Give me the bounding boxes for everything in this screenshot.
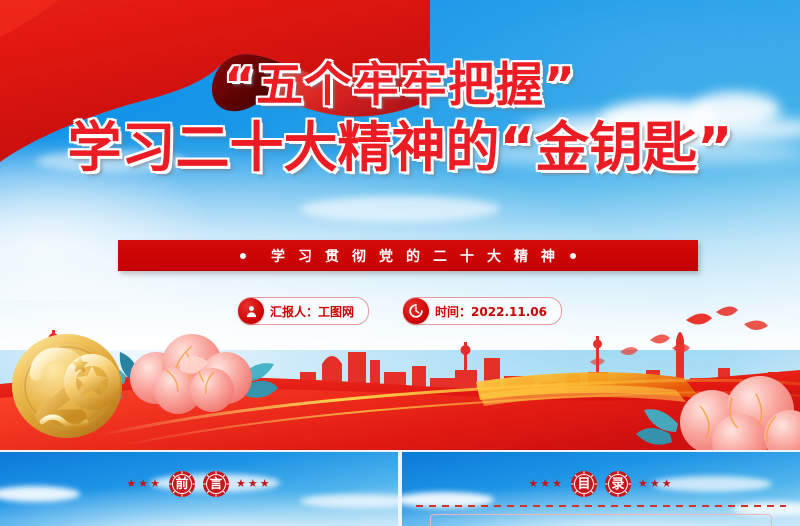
seal-char: 目 (577, 478, 590, 491)
subtitle-bar-text: 学习贯彻党的二十大精神 (258, 246, 568, 266)
dashed-divider (416, 505, 786, 507)
thumbnail-content: ★★★ 目 (402, 452, 800, 526)
presentation-canvas: “五个牢牢把握” 学习二十大精神的“金钥匙” 学习贯彻党的二十大精神 汇报人：工… (0, 0, 800, 526)
seal-badge: 录 (604, 470, 632, 498)
title-block: “五个牢牢把握” 学习二十大精神的“金钥匙” (0, 62, 800, 175)
seal-char: 前 (175, 478, 188, 491)
stars-left: ★★★ (126, 479, 162, 490)
seal-char: 言 (209, 478, 222, 491)
stars-right: ★★★ (638, 479, 674, 490)
thumbnail-content: ★★★ 前 (0, 452, 398, 526)
seal-badge: 前 (168, 470, 196, 498)
thumbnail-title-row: ★★★ 前 (0, 470, 398, 498)
stars-right: ★★★ (236, 479, 272, 490)
content-placeholder-box (430, 514, 772, 526)
title-line-2: 学习二十大精神的“金钥匙” (0, 121, 800, 175)
anniversary-emblem (8, 330, 126, 442)
title-line-1: “五个牢牢把握” (0, 62, 800, 109)
slide-thumbnail-strip: ★★★ 前 (0, 452, 800, 526)
stars-left: ★★★ (528, 479, 564, 490)
thumbnail-contents-slide[interactable]: ★★★ 目 (402, 452, 800, 526)
seal-char: 录 (611, 478, 624, 491)
main-slide[interactable]: “五个牢牢把握” 学习二十大精神的“金钥匙” 学习贯彻党的二十大精神 汇报人：工… (0, 0, 800, 450)
thumbnail-title-row: ★★★ 目 (402, 470, 800, 498)
bullet-dot-icon (570, 253, 576, 259)
subtitle-bar: 学习贯彻党的二十大精神 (118, 240, 698, 271)
cloud-icon (300, 196, 500, 222)
thumbnail-preface-slide[interactable]: ★★★ 前 (0, 452, 398, 526)
bullet-dot-icon (240, 253, 246, 259)
seal-badge: 目 (570, 470, 598, 498)
seal-badge: 言 (202, 470, 230, 498)
